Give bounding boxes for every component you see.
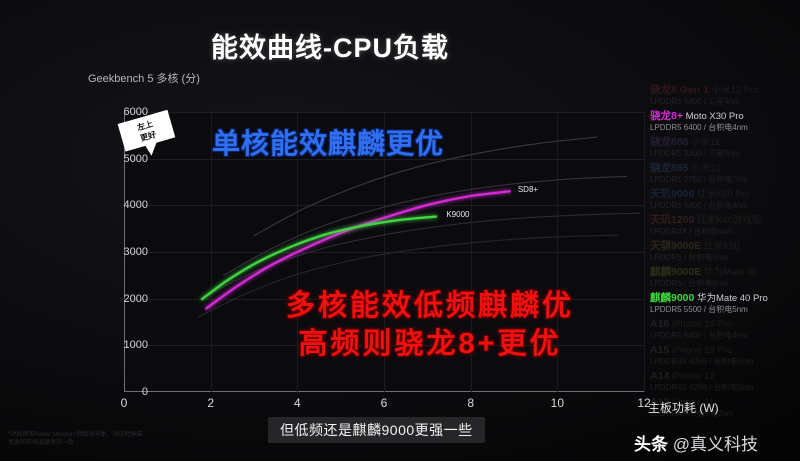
legend-item-0[interactable]: 骁龙8 Gen 1 小米12 ProLPDDR5 6400 / 三星4nm bbox=[648, 84, 800, 107]
x-tick-label: 6 bbox=[381, 396, 388, 410]
y-tick-label: 3000 bbox=[102, 246, 148, 258]
watermark-brand: 头条 bbox=[634, 435, 668, 454]
gridline-vertical bbox=[644, 112, 645, 392]
bottom-caption: 但低频还是麒麟9000更强一些 bbox=[268, 417, 485, 443]
legend-device-name: iPhone 14 Pro bbox=[669, 319, 732, 330]
legend-device-name: 小米12 Pro bbox=[709, 85, 759, 96]
legend-spec: LPDDR4X / 台积电7nm bbox=[650, 409, 800, 419]
legend-panel: 骁龙8 Gen 1 小米12 ProLPDDR5 6400 / 三星4nm骁龙8… bbox=[648, 84, 800, 422]
legend-item-6[interactable]: 天骐9000E 红米K50LPDDR5 / 台积电5nm bbox=[648, 240, 800, 263]
y-axis-label: Geekbench 5 多核 (分) bbox=[88, 70, 200, 86]
y-tick-label: 2000 bbox=[102, 293, 148, 305]
legend-device-name: Moto X30 Pro bbox=[683, 111, 744, 122]
legend-soc-name: 麒麟9000E bbox=[650, 266, 701, 278]
legend-device-name: 小米11 bbox=[689, 137, 721, 148]
legend-soc-name: A14 bbox=[650, 370, 669, 382]
legend-device-name: 小米10 bbox=[689, 163, 721, 174]
legend-soc-name: 骁龙8 Gen 1 bbox=[650, 84, 709, 96]
legend-soc-name: 天玑1200 bbox=[650, 214, 694, 226]
watermark: 头条 @真义科技 bbox=[634, 430, 758, 455]
y-tick-label: 1000 bbox=[102, 339, 148, 351]
x-tick-label: 0 bbox=[121, 396, 128, 410]
legend-item-4[interactable]: 天玑9000 红米K50 ProLPDDR5 6400 / 台积电4nm bbox=[648, 188, 800, 211]
curve-label-k9000: K9000 bbox=[446, 210, 469, 219]
legend-soc-name: 天玑9000 bbox=[650, 188, 694, 200]
legend-item-1[interactable]: 骁龙8+ Moto X30 ProLPDDR5 6400 / 台积电4nm bbox=[648, 110, 800, 133]
x-tick-label: 8 bbox=[467, 396, 474, 410]
legend-spec: LPDDR4X 4266 / 台积电5nm bbox=[650, 357, 800, 367]
legend-device-name: 红米K40游戏版 bbox=[694, 215, 761, 226]
legend-spec: LPDDR5 3200 / 三星5nm bbox=[650, 149, 800, 159]
legend-spec: LPDDR5 / 台积电5nm bbox=[650, 253, 800, 263]
legend-item-3[interactable]: 骁龙865 小米10LPDDR5 2750 / 台积电7nm bbox=[648, 162, 800, 185]
legend-soc-name: 骁龙888 bbox=[650, 136, 689, 148]
legend-item-5[interactable]: 天玑1200 红米K40游戏版LPDDR4X / 台积电6nm bbox=[648, 214, 800, 237]
legend-soc-name: A16 bbox=[650, 318, 669, 330]
legend-item-10[interactable]: A15 iPhone 13 ProLPDDR4X 4266 / 台积电5nm bbox=[648, 344, 800, 367]
legend-device-name: 红米K50 bbox=[701, 241, 740, 252]
x-tick-label: 2 bbox=[207, 396, 214, 410]
legend-device-name: 华为Mate 40 Pro bbox=[694, 293, 767, 304]
legend-spec: LPDDR5 5500 / 台积电5nm bbox=[650, 305, 800, 315]
annotation-single-core: 单核能效麒麟更优 bbox=[118, 122, 538, 162]
legend-item-9[interactable]: A16 iPhone 14 ProLPDDR5 6400 / 台积电4nm bbox=[648, 318, 800, 341]
y-tick-label: 4000 bbox=[102, 199, 148, 211]
legend-item-11[interactable]: A14 iPhone 12LPDDR4X 4266 / 台积电5nm bbox=[648, 370, 800, 393]
legend-device-name: 华为Mate 40 bbox=[701, 267, 757, 278]
legend-spec: LPDDR4X / 台积电6nm bbox=[650, 227, 800, 237]
legend-soc-name: 麒麟9000 bbox=[650, 292, 694, 304]
annotation-multi-core-high: 高频则骁龙8+更优 bbox=[230, 320, 630, 362]
y-tick-label: 6000 bbox=[102, 106, 148, 118]
legend-soc-name: 天骐9000E bbox=[650, 240, 701, 252]
legend-soc-name: 骁龙865 bbox=[650, 162, 689, 174]
legend-soc-name: A13 bbox=[650, 396, 669, 408]
legend-item-8[interactable]: 麒麟9000 华为Mate 40 ProLPDDR5 5500 / 台积电5nm bbox=[648, 292, 800, 315]
legend-device-name: iPhone 13 Pro bbox=[669, 345, 732, 356]
legend-item-2[interactable]: 骁龙888 小米11LPDDR5 3200 / 三星5nm bbox=[648, 136, 800, 159]
slide-root: 能效曲线-CPU负载 Geekbench 5 多核 (分) 主板功耗 (W) S… bbox=[0, 0, 800, 461]
legend-spec: LPDDR5 6400 / 台积电4nm bbox=[650, 123, 800, 133]
legend-soc-name: 骁龙8+ bbox=[650, 110, 683, 122]
annotation-multi-core-low: 多核能效低频麒麟优 bbox=[230, 282, 630, 324]
watermark-handle: @真义科技 bbox=[673, 435, 758, 454]
legend-device-name: iPhone 11 bbox=[669, 397, 714, 408]
legend-spec: LPDDR5 2750 / 台积电7nm bbox=[650, 175, 800, 185]
legend-spec: LPDDR5 6400 / 三星4nm bbox=[650, 97, 800, 107]
legend-item-12[interactable]: A13 iPhone 11LPDDR4X / 台积电7nm bbox=[648, 396, 800, 419]
legend-spec: LPDDR5 / 台积电5nm bbox=[650, 279, 800, 289]
page-title: 能效曲线-CPU负载 bbox=[0, 26, 660, 65]
footnote: *功耗使用Power Monitor+转接板采集，测试时屏幕亮度和环境温度保持一… bbox=[8, 431, 148, 447]
legend-device-name: iPhone 12 bbox=[669, 371, 714, 382]
legend-device-name: 红米K50 Pro bbox=[694, 189, 750, 200]
x-tick-label: 4 bbox=[294, 396, 301, 410]
curve-label-sd8+: SD8+ bbox=[518, 185, 538, 194]
legend-item-7[interactable]: 麒麟9000E 华为Mate 40LPDDR5 / 台积电5nm bbox=[648, 266, 800, 289]
x-tick-label: 10 bbox=[551, 396, 564, 410]
legend-spec: LPDDR5 6400 / 台积电4nm bbox=[650, 201, 800, 211]
legend-spec: LPDDR5 6400 / 台积电4nm bbox=[650, 331, 800, 341]
legend-soc-name: A15 bbox=[650, 344, 669, 356]
legend-spec: LPDDR4X 4266 / 台积电5nm bbox=[650, 383, 800, 393]
